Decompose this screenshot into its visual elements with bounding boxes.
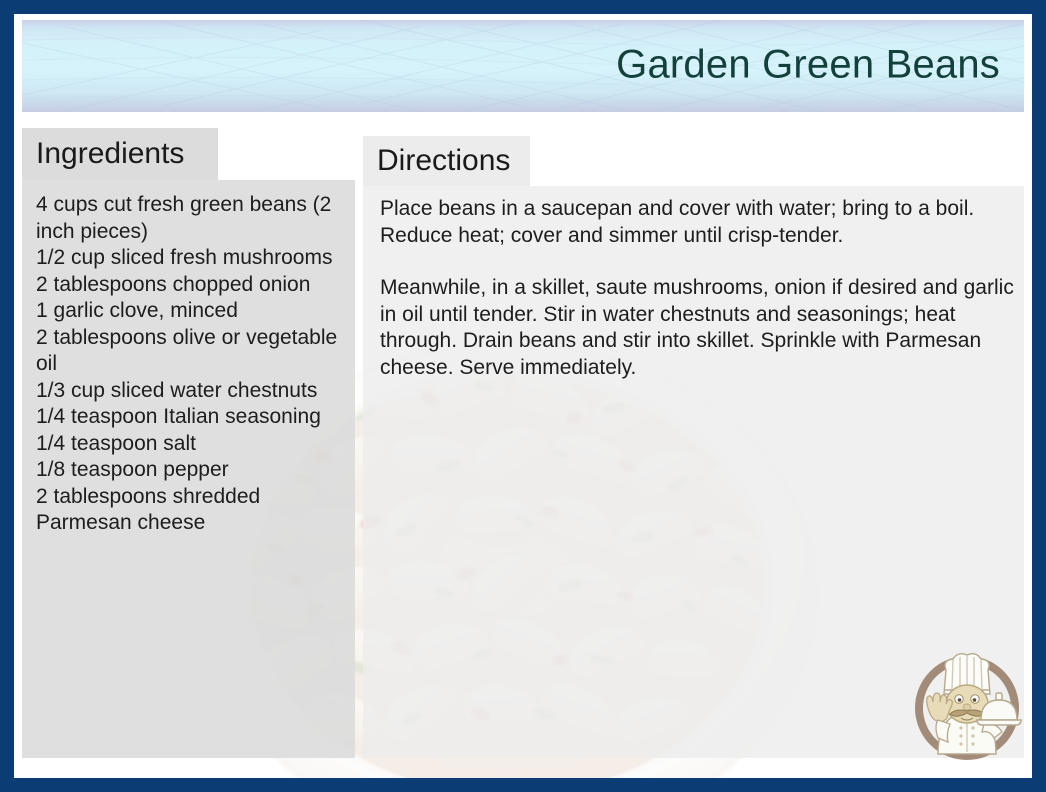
list-item: 4 cups cut fresh green beans (2 inch pie… <box>36 192 348 245</box>
list-item: 1/8 teaspoon pepper <box>36 457 348 484</box>
list-item: 1/4 teaspoon salt <box>36 431 348 458</box>
list-item: 2 tablespoons chopped onion <box>36 272 348 299</box>
recipe-card-page: Garden Green Beans Ingredients 4 cups cu… <box>14 14 1032 778</box>
chef-mascot-logo <box>908 646 1026 764</box>
list-item: 1/2 cup sliced fresh mushrooms <box>36 245 348 272</box>
directions-text: Place beans in a saucepan and cover with… <box>363 196 1031 381</box>
recipe-card-slide: Garden Green Beans Ingredients 4 cups cu… <box>0 0 1046 792</box>
directions-heading: Directions <box>377 146 510 176</box>
list-item: 1 garlic clove, minced <box>36 298 348 325</box>
header-banner: Garden Green Beans <box>22 20 1024 112</box>
ingredients-section-tab: Ingredients <box>22 128 218 180</box>
direction-paragraph: Place beans in a saucepan and cover with… <box>380 196 1023 249</box>
list-item: 2 tablespoons shredded Parmesan cheese <box>36 484 348 537</box>
ingredients-list: 4 cups cut fresh green beans (2 inch pie… <box>22 192 358 537</box>
list-item: 1/4 teaspoon Italian seasoning <box>36 404 348 431</box>
list-item: 2 tablespoons olive or vegetable oil <box>36 325 348 378</box>
direction-paragraph: Meanwhile, in a skillet, saute mushrooms… <box>380 275 1023 381</box>
directions-section-tab: Directions <box>363 136 530 186</box>
ingredients-heading: Ingredients <box>36 139 184 169</box>
page-title: Garden Green Beans <box>616 43 1000 88</box>
list-item: 1/3 cup sliced water chestnuts <box>36 378 348 405</box>
